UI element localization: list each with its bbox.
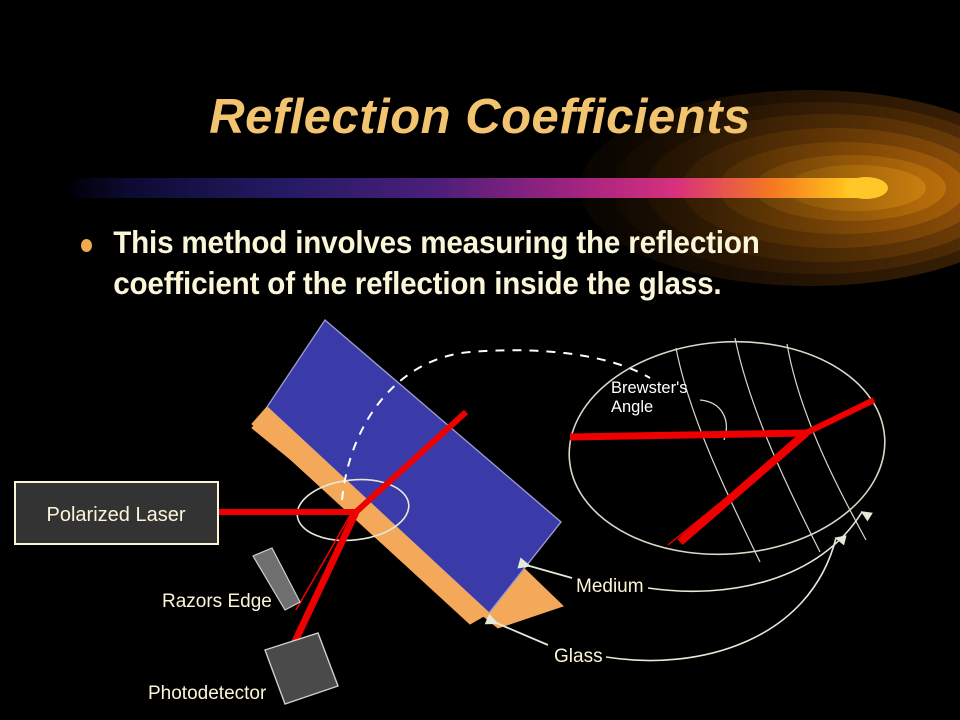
callout-incident-ray: [570, 433, 806, 437]
medium-label: Medium: [576, 576, 644, 597]
slide-canvas: Reflection Coefficients This method invo…: [0, 0, 960, 720]
brewsters-angle-label-line2: Angle: [611, 398, 653, 416]
polarized-laser-label: Polarized Laser: [47, 504, 186, 526]
brewsters-angle-label-line1: Brewster's: [611, 379, 688, 397]
magnifier-region-large: [562, 331, 892, 565]
razors-edge-label: Razors Edge: [162, 591, 272, 612]
interface-lines: [676, 338, 866, 562]
glass-label: Glass: [554, 646, 603, 667]
glass-leader-arrow: [487, 619, 548, 645]
callout-reflected-ray: [806, 400, 874, 433]
glass-leader-curve: [606, 538, 836, 661]
reflected-beam-to-detector: [290, 512, 356, 652]
clipped-secondary-ray: [296, 512, 352, 610]
photodetector-label: Photodetector: [148, 683, 267, 704]
photodetector-box: [265, 633, 338, 704]
optics-diagram: Polarized Laser Razors Edge Photodetecto…: [0, 0, 960, 720]
callout-thin-ray: [668, 433, 806, 545]
